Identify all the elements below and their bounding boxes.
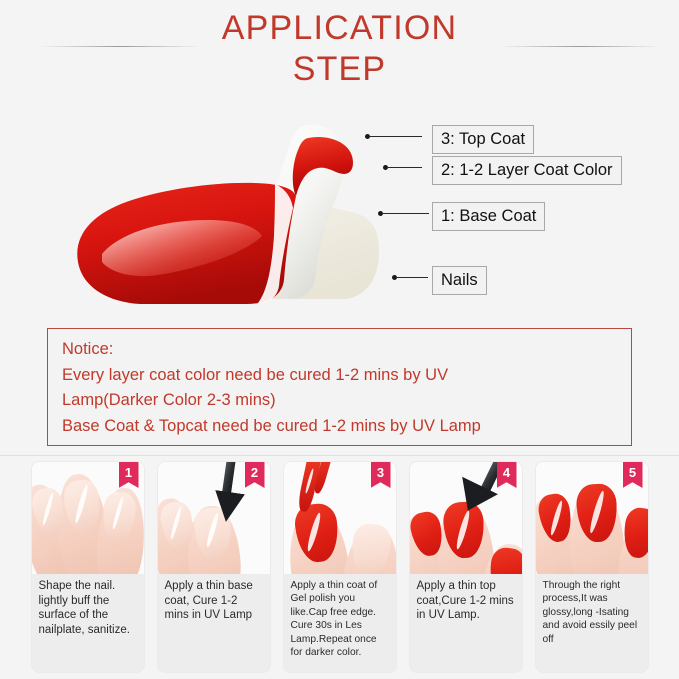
notice-line-4: Base Coat & Topcat need be cured 1-2 min… bbox=[62, 414, 619, 440]
step-card-5[interactable]: 5 Through the right process,It was gloss… bbox=[536, 462, 648, 672]
notice-line-3: Lamp(Darker Color 2-3 mins) bbox=[62, 388, 619, 414]
label-base-coat: 1: Base Coat bbox=[432, 202, 545, 231]
step-caption-4: Apply a thin top coat,Cure 1-2 mins in U… bbox=[410, 574, 522, 627]
leader-line-base-coat bbox=[382, 213, 429, 214]
step-number-badge-1: 1 bbox=[119, 462, 139, 488]
step-card-3[interactable]: 3 Apply a thin coat of Gel polish you li… bbox=[284, 462, 396, 672]
bare-nail-photo: 1 bbox=[32, 462, 144, 574]
nail-layer-diagram: 3: Top Coat 2: 1-2 Layer Coat Color 1: B… bbox=[0, 100, 679, 322]
notice-line-1: Notice: bbox=[62, 337, 619, 363]
label-layer-color: 2: 1-2 Layer Coat Color bbox=[432, 156, 622, 185]
red-polish-brush-photo: 3 bbox=[284, 462, 396, 574]
step-number-badge-5: 5 bbox=[623, 462, 643, 488]
notice-box: Notice: Every layer coat color need be c… bbox=[47, 328, 632, 446]
step-caption-3: Apply a thin coat of Gel polish you like… bbox=[284, 574, 396, 663]
step-card-4[interactable]: 4 Apply a thin top coat,Cure 1-2 mins in… bbox=[410, 462, 522, 672]
leader-line-nails bbox=[396, 277, 428, 278]
step-cards-row: 1 Shape the nail. lightly buff the surfa… bbox=[0, 462, 679, 676]
page-title-line-2: STEP bbox=[0, 49, 679, 90]
leader-line-layer-color bbox=[387, 167, 422, 168]
base-coat-brush-photo: 2 bbox=[158, 462, 270, 574]
step-caption-1: Shape the nail. lightly buff the surface… bbox=[32, 574, 144, 641]
step-number-badge-4: 4 bbox=[497, 462, 517, 488]
leader-line-top-coat bbox=[369, 136, 422, 137]
section-divider bbox=[0, 455, 679, 456]
top-coat-brush-photo: 4 bbox=[410, 462, 522, 574]
finished-nails-photo: 5 bbox=[536, 462, 648, 574]
step-caption-2: Apply a thin base coat, Cure 1-2 mins in… bbox=[158, 574, 270, 627]
label-top-coat: 3: Top Coat bbox=[432, 125, 534, 154]
step-number-badge-3: 3 bbox=[371, 462, 391, 488]
step-card-2[interactable]: 2 Apply a thin base coat, Cure 1-2 mins … bbox=[158, 462, 270, 672]
label-nails: Nails bbox=[432, 266, 487, 295]
page-title-line-1: APPLICATION bbox=[0, 8, 679, 49]
notice-line-2: Every layer coat color need be cured 1-2… bbox=[62, 363, 619, 389]
step-caption-5: Through the right process,It was glossy,… bbox=[536, 574, 648, 650]
step-number-badge-2: 2 bbox=[245, 462, 265, 488]
page-header: APPLICATION STEP bbox=[0, 0, 679, 104]
step-card-1[interactable]: 1 Shape the nail. lightly buff the surfa… bbox=[32, 462, 144, 672]
page-title: APPLICATION STEP bbox=[0, 8, 679, 90]
